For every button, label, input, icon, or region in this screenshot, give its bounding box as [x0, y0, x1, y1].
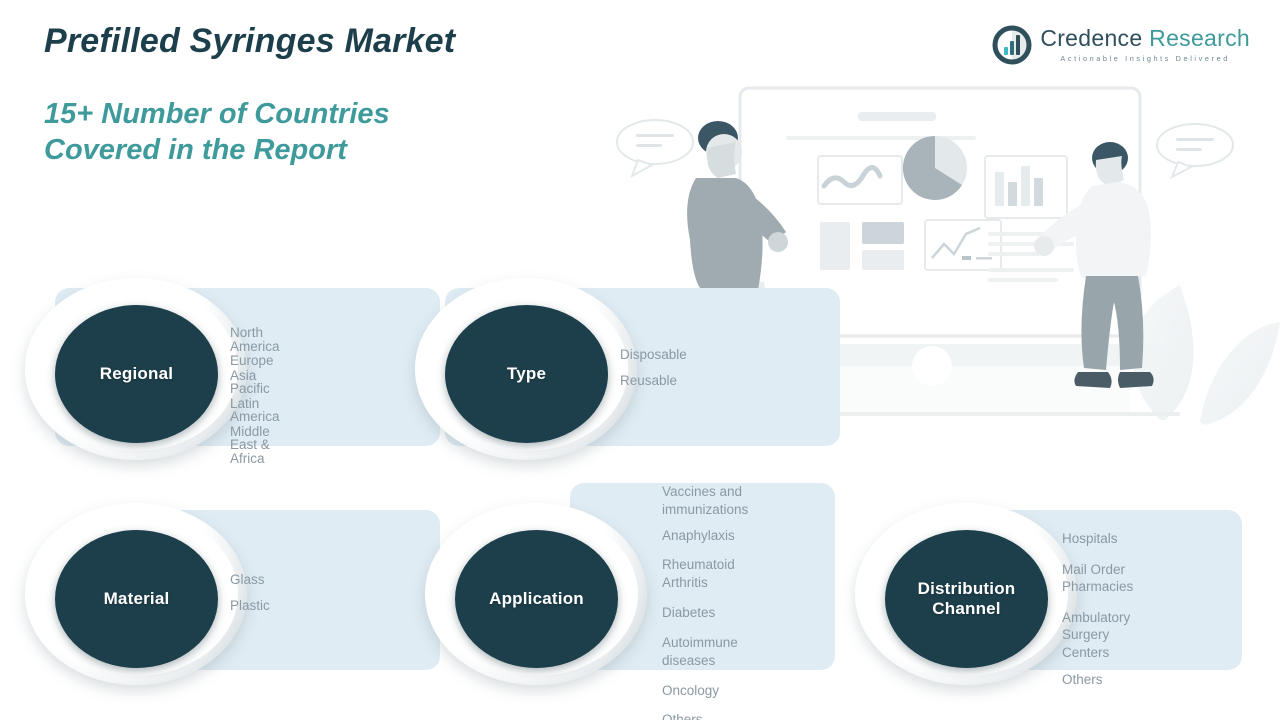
list-item: Hospitals — [1062, 530, 1133, 548]
items-application: Vaccines and immunizations Anaphylaxis R… — [662, 483, 748, 720]
disc-distribution-channel[interactable]: Distribution Channel — [885, 530, 1048, 668]
brand-logo: Credence Research Actionable Insights De… — [992, 25, 1250, 65]
logo-text-block: Credence Research Actionable Insights De… — [1040, 27, 1250, 62]
items-distribution-channel: Hospitals Mail Order Pharmacies Ambulato… — [1062, 530, 1133, 689]
logo-name-part1: Credence — [1040, 25, 1142, 51]
card-label-regional: Regional — [100, 364, 173, 384]
card-label-type: Type — [507, 364, 546, 384]
speech-bubble-right — [1157, 124, 1233, 177]
list-item: Glass — [230, 573, 270, 587]
list-item: Diabetes — [662, 604, 748, 622]
bar-chart-circle-icon — [992, 25, 1032, 65]
infographic-slide: Prefilled Syringes Market 15+ Number of … — [0, 0, 1280, 720]
subtitle-line-2: Covered in the Report — [44, 132, 390, 168]
list-item: Asia Pacific — [230, 369, 280, 396]
list-item: Europe — [230, 354, 280, 368]
list-item: Vaccines and immunizations — [662, 483, 748, 519]
page-title: Prefilled Syringes Market — [44, 22, 455, 61]
list-item: North America — [230, 326, 280, 353]
list-item: Autoimmune diseases — [662, 634, 748, 670]
pie-chart — [903, 136, 967, 200]
subtitle-line-1: 15+ Number of Countries — [44, 96, 390, 132]
disc-application[interactable]: Application — [455, 530, 618, 668]
list-item: Mail Order Pharmacies — [1062, 561, 1133, 596]
speech-bubble-left — [617, 120, 693, 176]
list-item: Plastic — [230, 599, 270, 613]
card-label-application: Application — [489, 589, 584, 609]
card-label-material: Material — [104, 589, 170, 609]
logo-name-part2: Research — [1149, 25, 1250, 51]
list-item: Others — [662, 711, 748, 720]
list-item: Middle East & Africa — [230, 425, 280, 466]
items-material: Glass Plastic — [230, 573, 270, 624]
list-item: Latin America — [230, 397, 280, 424]
list-item: Oncology — [662, 682, 748, 700]
logo-name: Credence Research — [1040, 27, 1250, 50]
page-subtitle: 15+ Number of Countries Covered in the R… — [44, 96, 390, 169]
disc-regional[interactable]: Regional — [55, 305, 218, 443]
items-regional: North America Europe Asia Pacific Latin … — [230, 326, 280, 466]
disc-material[interactable]: Material — [55, 530, 218, 668]
list-item: Disposable — [620, 348, 687, 362]
items-type: Disposable Reusable — [620, 348, 687, 399]
list-item: Reusable — [620, 374, 687, 388]
list-item: Others — [1062, 671, 1133, 689]
disc-type[interactable]: Type — [445, 305, 608, 443]
list-item: Ambulatory Surgery Centers — [1062, 609, 1133, 662]
list-item: Anaphylaxis — [662, 527, 748, 545]
list-item: Rheumatoid Arthritis — [662, 556, 748, 592]
card-label-distribution-channel: Distribution Channel — [918, 579, 1016, 619]
